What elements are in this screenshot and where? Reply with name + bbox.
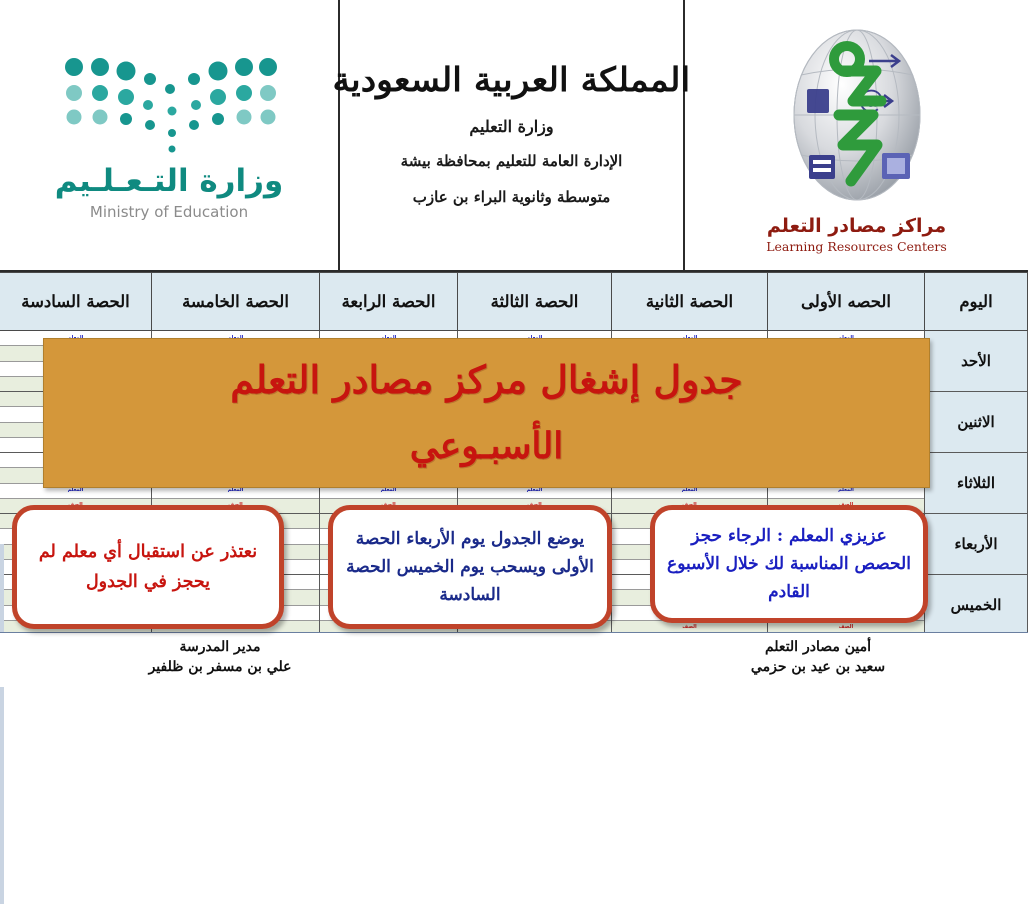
directorate-name: الإدارة العامة للتعليم بمحافظة بيشة (401, 152, 623, 170)
moe-logo-english-label: Ministry of Education (90, 203, 248, 221)
principal-name: علي بن مسفر بن ظلفير (60, 657, 380, 677)
header-left-logo-cell: @ مراك (683, 0, 1028, 270)
column-header-period3: الحصة الثالثة (458, 273, 612, 331)
school-name: متوسطة وثانوية البراء بن عازب (413, 188, 610, 206)
kingdom-title: المملكة العربية السعودية (333, 60, 691, 99)
column-header-period6: الحصة السادسة (0, 273, 152, 331)
day-cell: الأحد (925, 331, 1028, 392)
day-cell: الاثنين (925, 392, 1028, 453)
column-header-day: اليوم (925, 273, 1028, 331)
lrc-supervisor-name: سعيد بن عيد بن حزمي (668, 657, 968, 677)
ministry-of-education-logo-icon (54, 49, 284, 159)
day-cell: الخميس (925, 575, 1028, 636)
callout-teacher-booking-notice: عزيزي المعلم : الرجاء حجز الحصص المناسبة… (650, 505, 928, 623)
weekly-lrc-schedule-page: @ مراك (0, 0, 1028, 687)
table-left-edge (0, 544, 4, 904)
lrc-logo-arabic-label: مراكز مصادر التعلم (767, 215, 946, 237)
schedule-title-banner: جدول إشغال مركز مصادر التعلم الأسبـوعي (43, 338, 930, 488)
header-right-logo-cell: وزارة التـعـلـيم Ministry of Education (0, 0, 338, 270)
column-header-period2: الحصة الثانية (612, 273, 768, 331)
ministry-name: وزارة التعليم (469, 117, 553, 136)
signature-lrc-supervisor: أمين مصادر التعلم سعيد بن عيد بن حزمي (668, 637, 968, 677)
moe-logo-arabic-label: وزارة التـعـلـيم (55, 163, 284, 199)
document-footer: أمين مصادر التعلم سعيد بن عيد بن حزمي مد… (0, 632, 1028, 687)
page-title-line1: جدول إشغال مركز مصادر التعلم (230, 356, 743, 404)
signature-principal: مدير المدرسة علي بن مسفر بن ظلفير (60, 637, 380, 677)
learning-resources-centers-logo-icon: @ (781, 23, 933, 213)
document-header: @ مراك (0, 0, 1028, 272)
column-header-period5: الحصة الخامسة (152, 273, 320, 331)
callout-no-reservation-notice: نعتذر عن استقبال أي معلم لم يحجز في الجد… (12, 505, 284, 629)
principal-role: مدير المدرسة (60, 637, 380, 657)
callout-teacher-booking-text: عزيزي المعلم : الرجاء حجز الحصص المناسبة… (665, 522, 913, 606)
page-title-line2: الأسبـوعي (410, 422, 564, 470)
callout-schedule-posting-notice: يوضع الجدول يوم الأربعاء الحصة الأولى وي… (328, 505, 612, 629)
column-header-period1: الحصه الأولى (768, 273, 925, 331)
callout-no-reservation-text: نعتذر عن استقبال أي معلم لم يحجز في الجد… (27, 537, 269, 597)
lrc-supervisor-role: أمين مصادر التعلم (668, 637, 968, 657)
column-header-period4: الحصة الرابعة (320, 273, 458, 331)
lrc-logo-english-label: Learning Resources Centers (766, 239, 947, 254)
callout-schedule-posting-text: يوضع الجدول يوم الأربعاء الحصة الأولى وي… (343, 525, 597, 609)
header-center-text-cell: المملكة العربية السعودية وزارة التعليم ا… (338, 0, 683, 270)
day-cell: الثلاثاء (925, 453, 1028, 514)
day-cell: الأربعاء (925, 514, 1028, 575)
table-header-row: اليوم الحصه الأولى الحصة الثانية الحصة ا… (0, 273, 1028, 331)
